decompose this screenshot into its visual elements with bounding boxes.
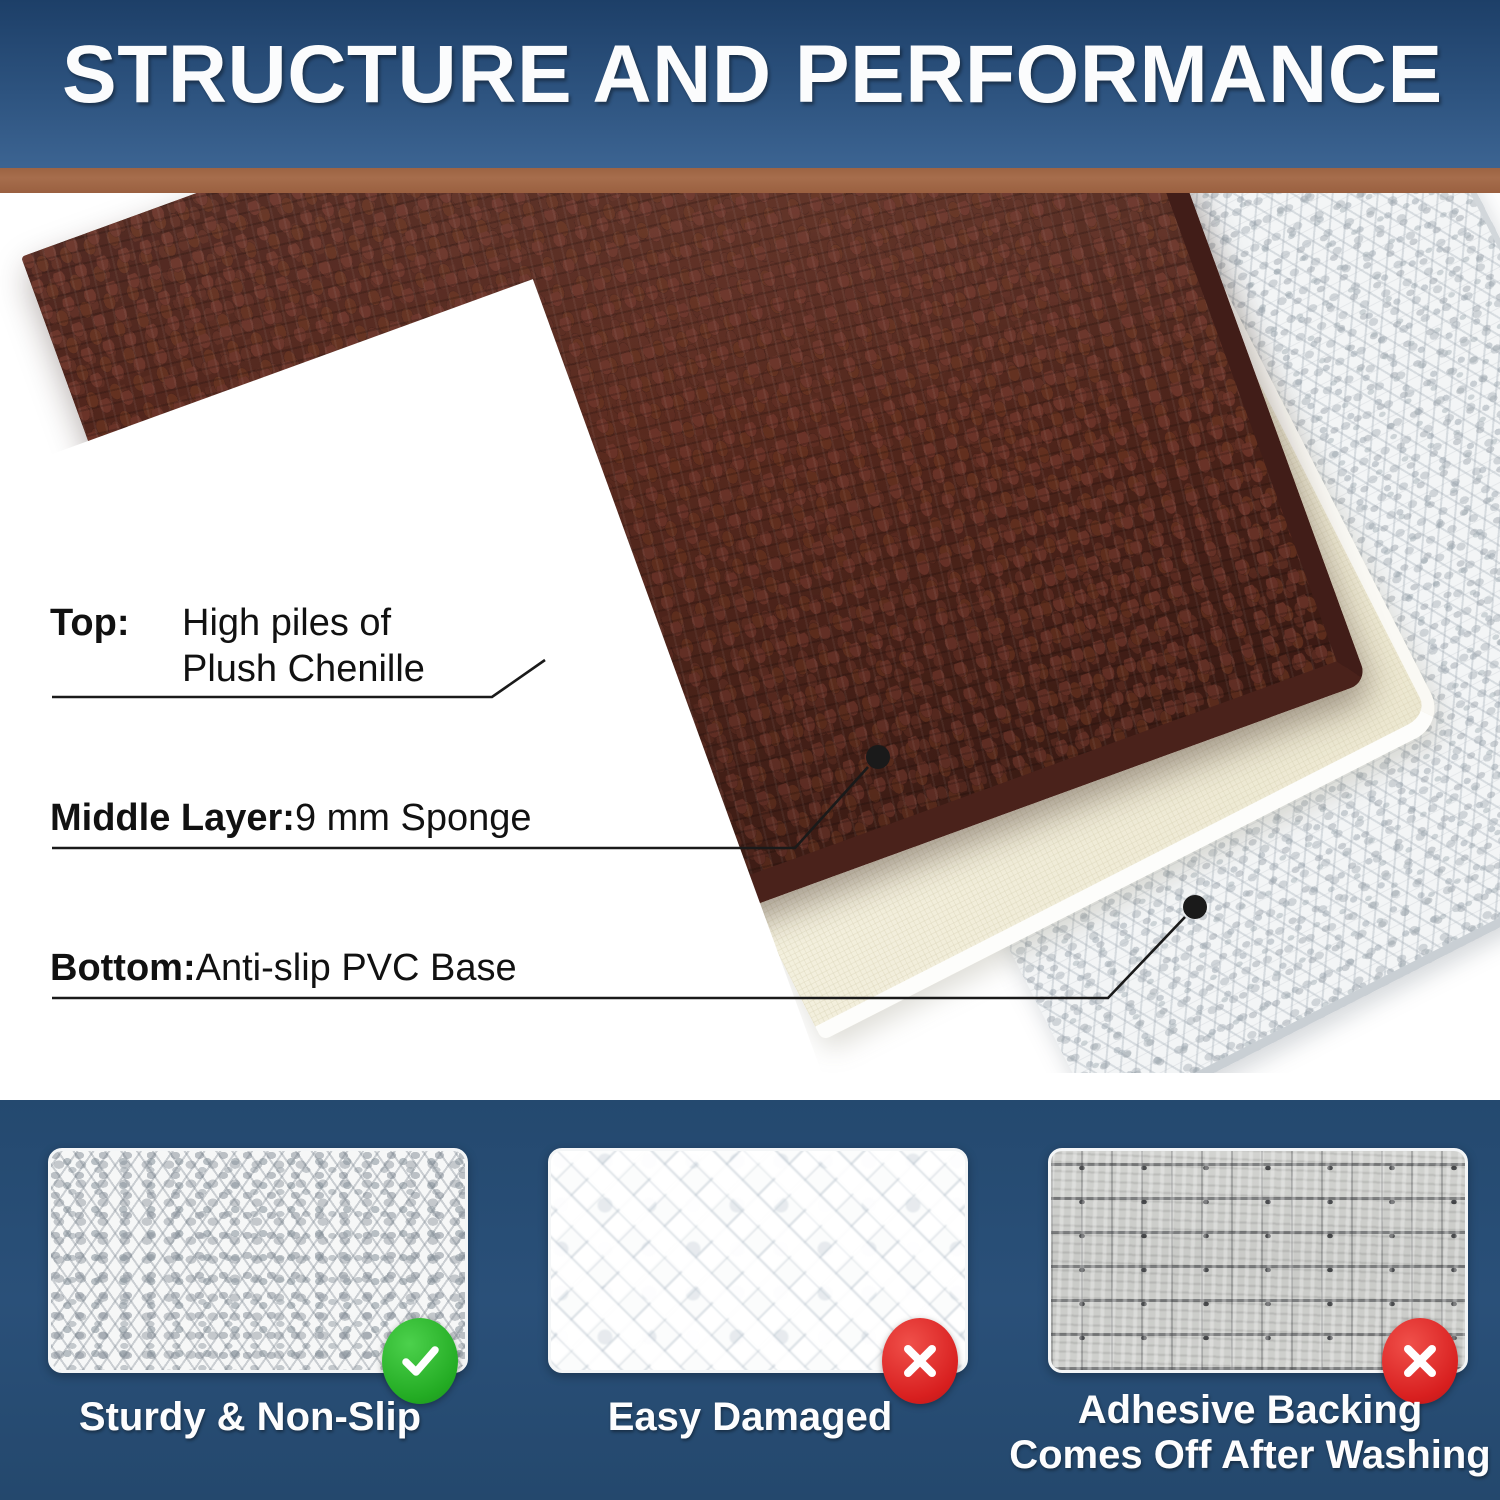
comparison-panels: Sturdy & Non-Slip Easy Damaged (0, 1100, 1500, 1500)
photo-mask-bottom (0, 1073, 1500, 1100)
comparison-panel-1: Sturdy & Non-Slip (0, 1100, 500, 1500)
comparison-panel-3-caption-line2: Comes Off After Washing (1000, 1433, 1500, 1478)
infographic-canvas: STRUCTURE AND PERFORMANCE Top: High pile… (0, 0, 1500, 1500)
comparison-panel-3-caption: Adhesive Backing Comes Off After Washing (1000, 1388, 1500, 1478)
callout-bottom-leader-line (0, 945, 1300, 1065)
comparison-panel-3: Adhesive Backing Comes Off After Washing (1000, 1100, 1500, 1500)
check-icon (382, 1318, 458, 1404)
comparison-panel-2-caption: Easy Damaged (500, 1395, 1000, 1440)
comparison-panel-2: Easy Damaged (500, 1100, 1000, 1500)
footer-comparison-band: Sturdy & Non-Slip Easy Damaged (0, 1100, 1500, 1500)
header-banner: STRUCTURE AND PERFORMANCE (0, 0, 1500, 168)
comparison-panel-1-caption-line1: Sturdy & Non-Slip (0, 1395, 500, 1440)
accent-divider-bar (0, 168, 1500, 193)
comparison-panel-2-caption-line1: Easy Damaged (500, 1395, 1000, 1440)
callout-middle-leader-line (0, 795, 1000, 915)
callout-top-leader-line (0, 600, 700, 740)
comparison-panel-3-caption-line1: Adhesive Backing (1000, 1388, 1500, 1433)
page-title: STRUCTURE AND PERFORMANCE (62, 28, 1443, 122)
cross-icon-2 (882, 1318, 958, 1404)
comparison-panel-1-caption: Sturdy & Non-Slip (0, 1395, 500, 1440)
